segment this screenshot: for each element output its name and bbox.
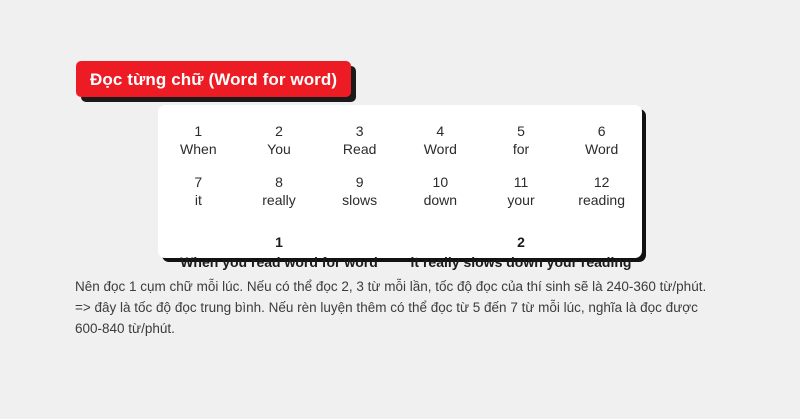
word-label: When <box>158 140 239 159</box>
chunk-label: it really slows down your reading <box>400 252 642 272</box>
section-heading-label: Đọc từng chữ (Word for word) <box>90 71 337 88</box>
word-grid: 1 When 2 You 3 Read 4 Word 5 for 6 Word <box>158 115 642 217</box>
word-number: 6 <box>561 122 642 140</box>
word-cell: 1 When <box>158 115 239 166</box>
word-cell: 6 Word <box>561 115 642 166</box>
note-line: => đây là tốc độ đọc trung bình. Nếu rèn… <box>75 297 745 318</box>
word-number: 12 <box>561 173 642 191</box>
chunk-cell: 1 When you read word for word <box>158 233 400 272</box>
word-label: reading <box>561 191 642 210</box>
word-label: slows <box>319 191 400 210</box>
word-cell: 7 it <box>158 166 239 217</box>
note-line: 600-840 từ/phút. <box>75 318 745 339</box>
word-cell: 2 You <box>239 115 320 166</box>
word-number: 3 <box>319 122 400 140</box>
word-label: Word <box>561 140 642 159</box>
section-heading-badge: Đọc từng chữ (Word for word) <box>76 61 351 97</box>
word-cell: 9 slows <box>319 166 400 217</box>
chunk-number: 2 <box>400 233 642 252</box>
word-number: 9 <box>319 173 400 191</box>
word-cell: 11 your <box>481 166 562 217</box>
word-number: 1 <box>158 122 239 140</box>
word-label: Read <box>319 140 400 159</box>
word-cell: 3 Read <box>319 115 400 166</box>
note-line: Nên đọc 1 cụm chữ mỗi lúc. Nếu có thể đọ… <box>75 276 745 297</box>
word-cell: 10 down <box>400 166 481 217</box>
word-label: for <box>481 140 562 159</box>
word-label: it <box>158 191 239 210</box>
word-label: really <box>239 191 320 210</box>
word-for-word-card: 1 When 2 You 3 Read 4 Word 5 for 6 Word <box>158 105 642 258</box>
word-cell: 4 Word <box>400 115 481 166</box>
word-label: your <box>481 191 562 210</box>
word-cell: 12 reading <box>561 166 642 217</box>
slide-canvas: Đọc từng chữ (Word for word) 1 When 2 Yo… <box>0 0 800 419</box>
word-number: 4 <box>400 122 481 140</box>
chunk-number: 1 <box>158 233 400 252</box>
word-cell: 8 really <box>239 166 320 217</box>
word-number: 2 <box>239 122 320 140</box>
chunk-row: 1 When you read word for word 2 it reall… <box>158 233 642 272</box>
word-number: 5 <box>481 122 562 140</box>
word-cell: 5 for <box>481 115 562 166</box>
word-number: 7 <box>158 173 239 191</box>
chunk-cell: 2 it really slows down your reading <box>400 233 642 272</box>
word-label: You <box>239 140 320 159</box>
explanation-note: Nên đọc 1 cụm chữ mỗi lúc. Nếu có thể đọ… <box>75 276 745 339</box>
word-label: Word <box>400 140 481 159</box>
word-number: 8 <box>239 173 320 191</box>
word-number: 11 <box>481 173 562 191</box>
word-number: 10 <box>400 173 481 191</box>
word-label: down <box>400 191 481 210</box>
chunk-label: When you read word for word <box>158 252 400 272</box>
